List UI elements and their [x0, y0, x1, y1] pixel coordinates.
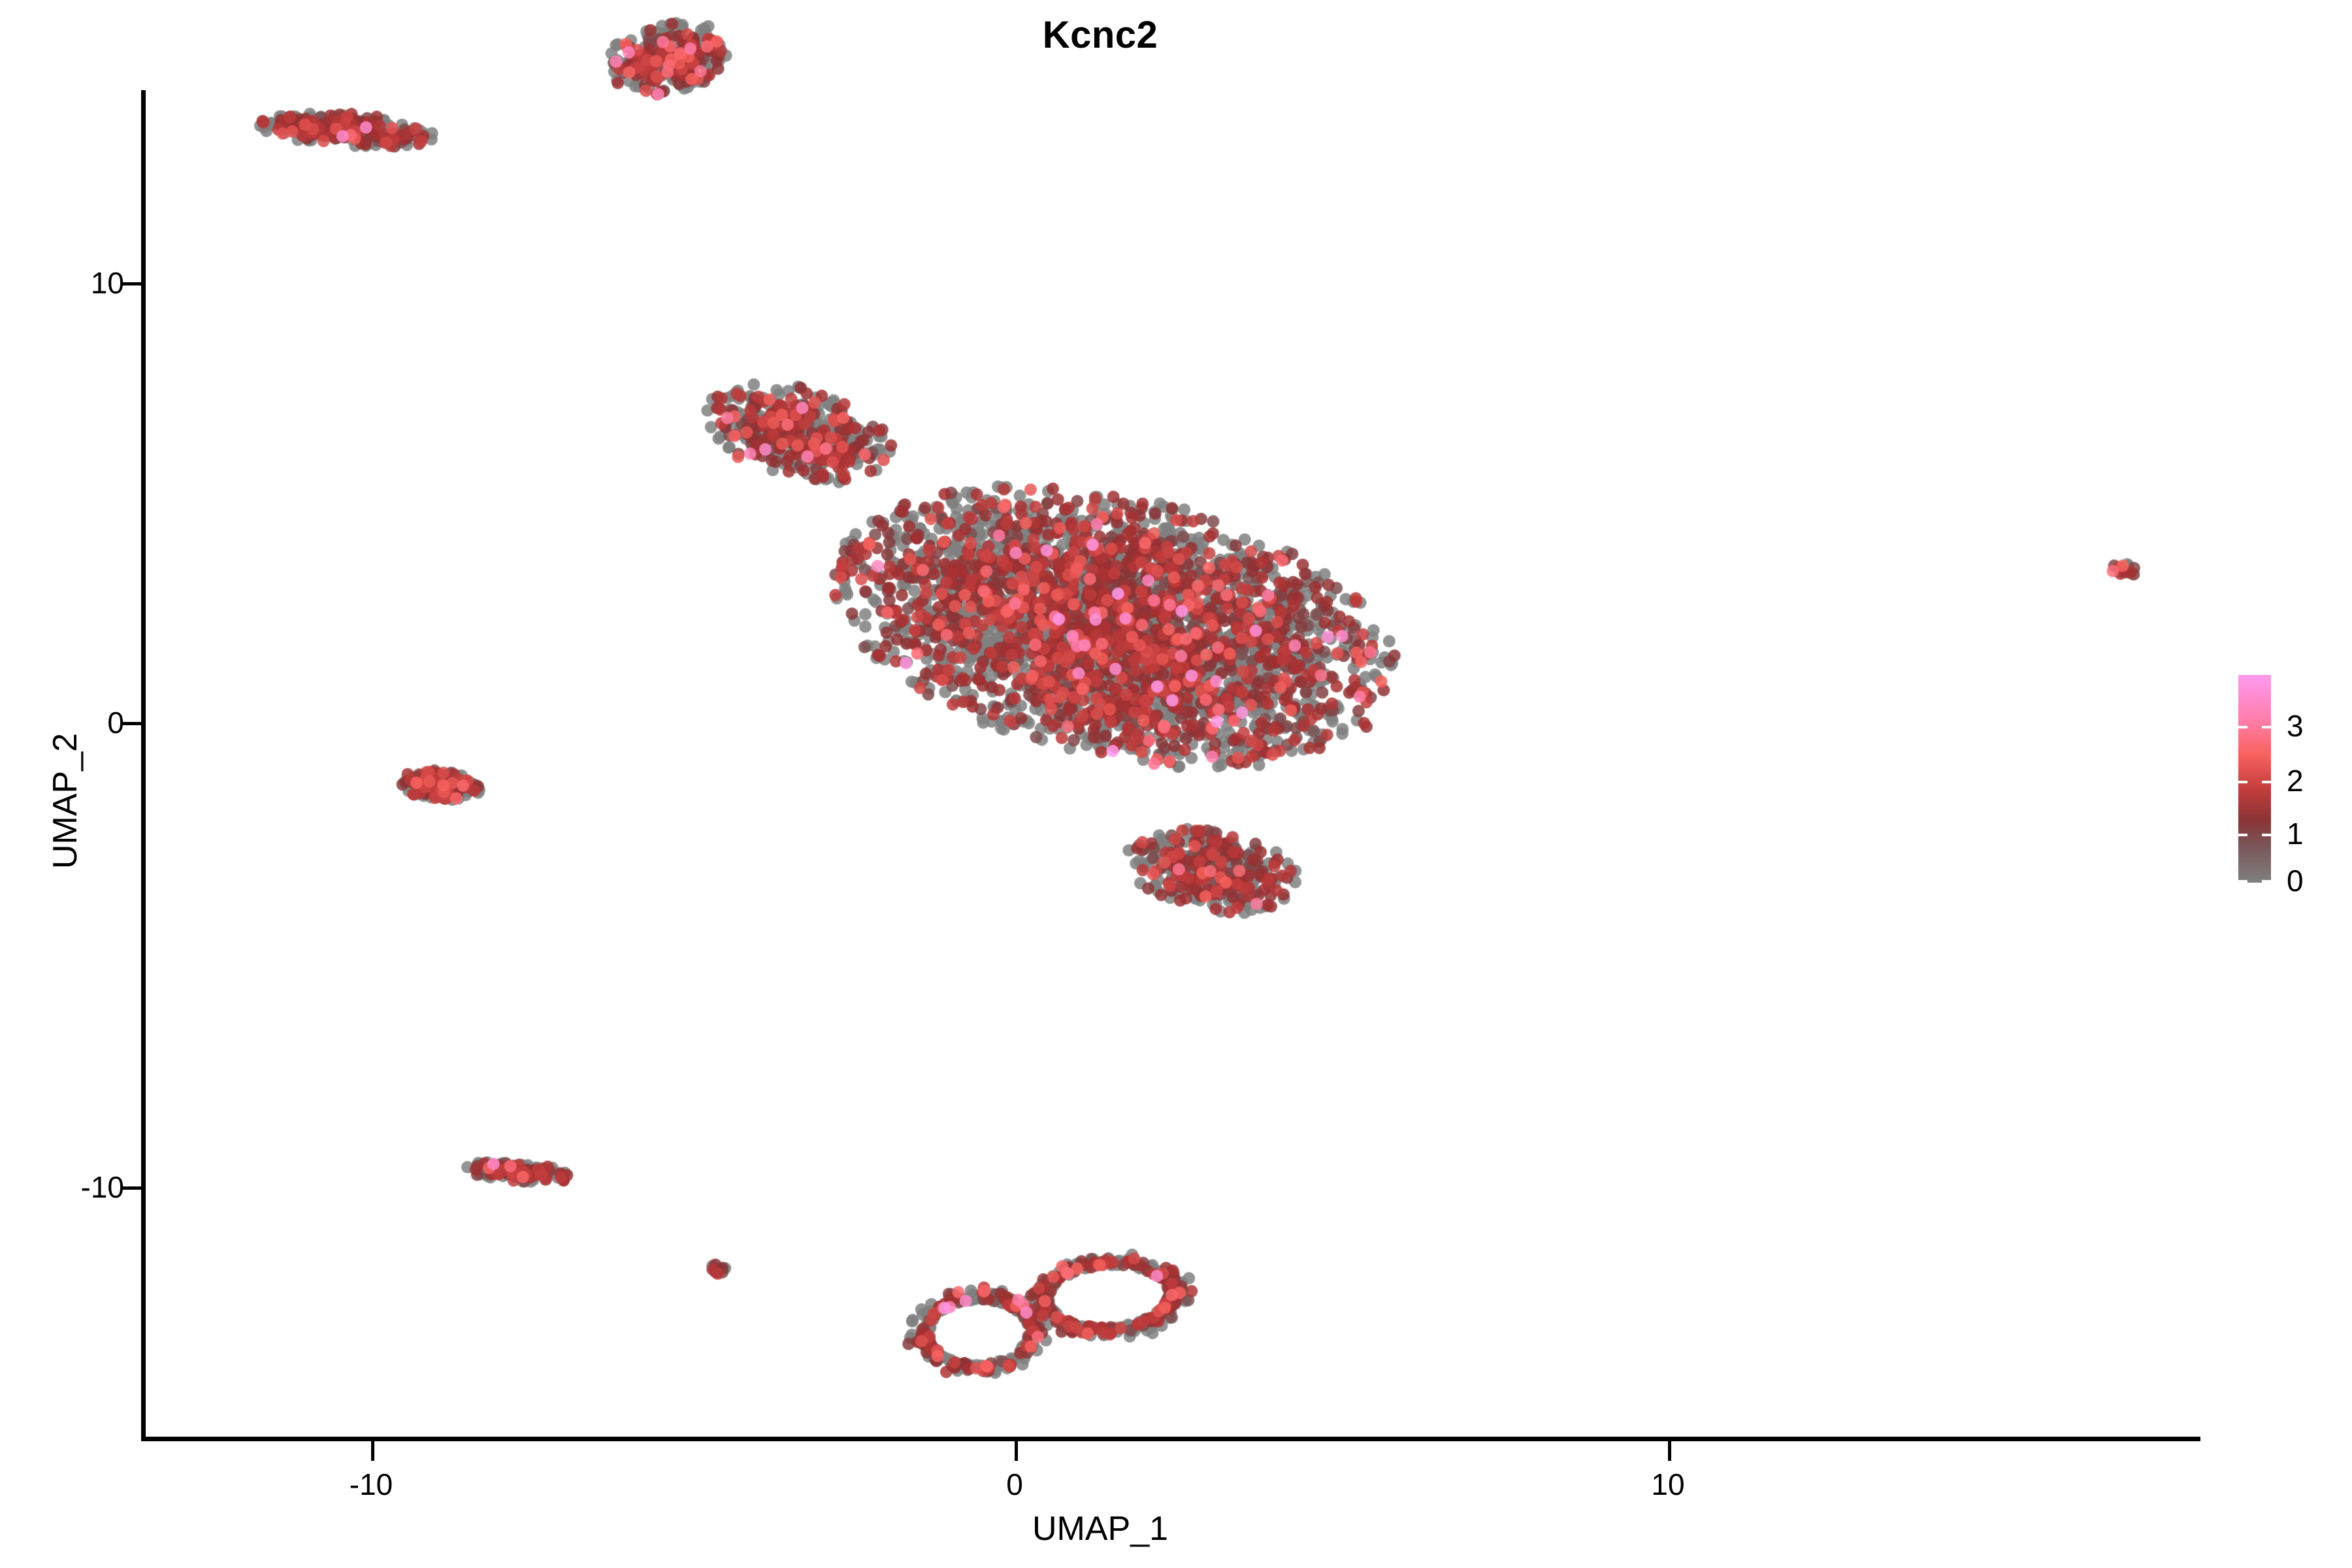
y-axis-tick-label: 0 — [107, 705, 124, 740]
y-axis-tick-label: 10 — [91, 265, 124, 301]
colorbar-tick-label: 2 — [2287, 766, 2304, 796]
x-axis-line — [141, 1437, 2200, 1441]
umap-feature-plot: Kcnc2 10 0 -10 -10 0 10 UMAP_2 UMAP_1 3 … — [0, 0, 2352, 1568]
x-axis-tick-label: 0 — [923, 1467, 1106, 1502]
y-axis-tick — [123, 722, 142, 725]
x-axis-tick — [371, 1441, 374, 1461]
colorbar-tick — [2238, 781, 2247, 783]
colorbar-tick — [2238, 880, 2247, 883]
x-axis-label: UMAP_1 — [0, 1509, 2200, 1548]
colorbar-tick-label: 1 — [2287, 819, 2304, 849]
x-axis-tick-label: -10 — [280, 1467, 463, 1502]
plot-panel — [145, 91, 2200, 1439]
y-axis-tick — [123, 282, 142, 286]
colorbar-legend: 3 2 1 0 — [2238, 675, 2271, 883]
x-axis-tick — [1668, 1441, 1671, 1461]
colorbar-tick — [2262, 781, 2271, 783]
page-title: Kcnc2 — [0, 13, 2200, 57]
x-axis-tick — [1015, 1441, 1018, 1461]
y-axis-tick-label: -10 — [81, 1169, 124, 1205]
colorbar-tick — [2238, 726, 2247, 728]
colorbar-tick-label: 3 — [2287, 711, 2304, 741]
colorbar-tick — [2262, 726, 2271, 728]
x-axis-tick-label: 10 — [1576, 1467, 1759, 1502]
y-axis-tick — [123, 1186, 142, 1190]
y-axis-label: UMAP_2 — [46, 733, 85, 869]
colorbar-tick-label: 0 — [2287, 866, 2304, 896]
colorbar-gradient — [2238, 675, 2271, 883]
colorbar-tick — [2262, 834, 2271, 836]
y-axis-line — [141, 90, 146, 1441]
colorbar-tick — [2238, 834, 2247, 836]
colorbar-tick — [2262, 880, 2271, 883]
